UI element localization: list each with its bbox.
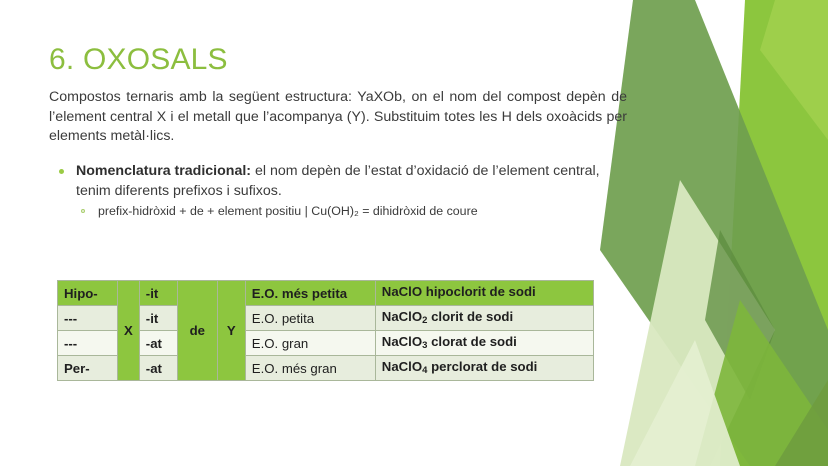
bullet-list: Nomenclatura tradicional: el nom depèn d…	[57, 162, 632, 220]
intro-paragraph: Compostos ternaris amb la següent estruc…	[49, 88, 627, 147]
cell-oxidation-state: E.O. més petita	[245, 281, 375, 306]
cell-prefix: Per-	[58, 356, 118, 381]
sub-bullet-list: prefix-hidròxid + de + element positiu |…	[76, 203, 632, 220]
table-row: Hipo- X -it de Y E.O. més petita NaClO h…	[58, 281, 594, 306]
cell-suffix: -at	[139, 356, 177, 381]
hollow-bullet-icon	[81, 209, 85, 213]
cell-prefix: ---	[58, 306, 118, 331]
facet-decoration-graphic	[600, 0, 828, 466]
cell-formula: NaClO2 clorit de sodi	[375, 306, 593, 331]
bullet-lead-label: Nomenclatura tradicional:	[76, 163, 251, 179]
cell-suffix: -at	[139, 331, 177, 356]
cell-oxidation-state: E.O. més gran	[245, 356, 375, 381]
cell-formula: NaClO hipoclorit de sodi	[375, 281, 593, 306]
slide-canvas: 6. OXOSALS Compostos ternaris amb la seg…	[0, 0, 828, 466]
cell-prefix: Hipo-	[58, 281, 118, 306]
cell-formula: NaClO4 perclorat de sodi	[375, 356, 593, 381]
cell-oxidation-state: E.O. petita	[245, 306, 375, 331]
cell-suffix: -it	[139, 281, 177, 306]
sub-list-item: prefix-hidròxid + de + element positiu |…	[76, 203, 632, 220]
cell-merged-x: X	[118, 281, 140, 381]
page-title: 6. OXOSALS	[49, 43, 228, 77]
cell-merged-de: de	[177, 281, 217, 381]
list-item: Nomenclatura tradicional: el nom depèn d…	[57, 162, 632, 220]
oxosals-table-container: Hipo- X -it de Y E.O. més petita NaClO h…	[57, 280, 594, 381]
bullet-dot-icon	[59, 169, 64, 174]
oxosals-table: Hipo- X -it de Y E.O. més petita NaClO h…	[57, 280, 594, 381]
sub-bullet-text: prefix-hidròxid + de + element positiu |…	[98, 204, 478, 218]
cell-formula: NaClO3 clorat de sodi	[375, 331, 593, 356]
cell-merged-y: Y	[217, 281, 245, 381]
cell-oxidation-state: E.O. gran	[245, 331, 375, 356]
cell-suffix: -it	[139, 306, 177, 331]
cell-prefix: ---	[58, 331, 118, 356]
